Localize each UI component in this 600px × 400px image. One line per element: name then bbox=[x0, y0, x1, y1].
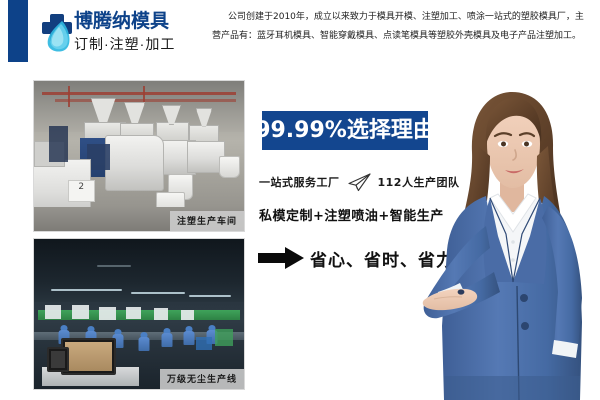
businesswoman-presenting-image bbox=[420, 86, 600, 400]
brand-block: 博腾纳模具 订制·注塑·加工 bbox=[74, 10, 204, 54]
right-arrow-icon bbox=[258, 247, 304, 269]
headline-text: 99.99%选择理由 bbox=[255, 120, 435, 142]
droplet-cross-logo-icon bbox=[40, 11, 74, 55]
company-description-line-2: 营产品有：蓝牙耳机模具、智能穿戴模具、点读笔模具等塑胶外壳模具及电子产品注塑加工… bbox=[212, 27, 594, 46]
photo-dust-free-production-line: 万级无尘生产线 bbox=[33, 238, 245, 390]
page-header: 博腾纳模具 订制·注塑·加工 公司创建于2010年，成立以来致力于模具开模、注塑… bbox=[0, 0, 600, 66]
header-accent-bar bbox=[8, 0, 28, 62]
company-description-line-1: 公司创建于2010年，成立以来致力于模具开模、注塑加工、喷涂一站式的塑胶模具厂，… bbox=[212, 8, 594, 27]
brand-name: 博腾纳模具 bbox=[74, 10, 204, 33]
company-description: 公司创建于2010年，成立以来致力于模具开模、注塑加工、喷涂一站式的塑胶模具厂，… bbox=[212, 8, 594, 46]
paper-plane-icon bbox=[346, 172, 372, 192]
photo-caption-molding: 注塑生产车间 bbox=[170, 211, 244, 231]
photo-injection-molding-workshop: 2 注塑生产车间 bbox=[33, 80, 245, 232]
feature-left-label: 一站式服务工厂 bbox=[259, 174, 340, 190]
formula-line: 私模定制+注塑喷油+智能生产 bbox=[259, 205, 444, 224]
photo-caption-cleanroom: 万级无尘生产线 bbox=[160, 369, 244, 389]
machine-number-plate: 2 bbox=[68, 180, 95, 202]
brand-tagline: 订制·注塑·加工 bbox=[74, 34, 204, 54]
promo-banner-page: 博腾纳模具 订制·注塑·加工 公司创建于2010年，成立以来致力于模具开模、注塑… bbox=[0, 0, 600, 400]
headline-banner: 99.99%选择理由 bbox=[262, 111, 428, 150]
